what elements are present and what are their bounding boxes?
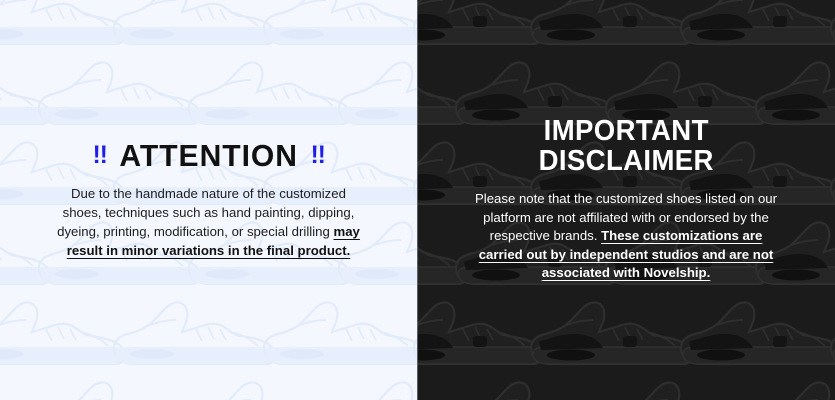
disclaimer-heading: IMPORTANT DISCLAIMER — [538, 117, 713, 176]
exclamation-left-icon: !! — [92, 143, 106, 168]
disclaimer-panel: IMPORTANT DISCLAIMER Please note that th… — [417, 0, 835, 400]
disclaimer-heading-line2: DISCLAIMER — [538, 147, 713, 177]
attention-panel: !! ATTENTION !! Due to the handmade natu… — [0, 0, 417, 400]
disclaimer-body: Please note that the customized shoes li… — [467, 190, 785, 282]
exclamation-right-icon: !! — [310, 143, 324, 168]
attention-body: Due to the handmade nature of the custom… — [54, 185, 364, 260]
attention-body-plain: Due to the handmade nature of the custom… — [57, 186, 354, 238]
panel-divider — [417, 0, 418, 400]
attention-heading: !! ATTENTION !! — [92, 140, 324, 173]
attention-heading-text: ATTENTION — [119, 140, 298, 173]
customization-notice-banner: !! ATTENTION !! Due to the handmade natu… — [0, 0, 835, 400]
attention-content: !! ATTENTION !! Due to the handmade natu… — [0, 0, 417, 400]
disclaimer-content: IMPORTANT DISCLAIMER Please note that th… — [417, 0, 835, 400]
disclaimer-heading-line1: IMPORTANT — [538, 117, 713, 147]
